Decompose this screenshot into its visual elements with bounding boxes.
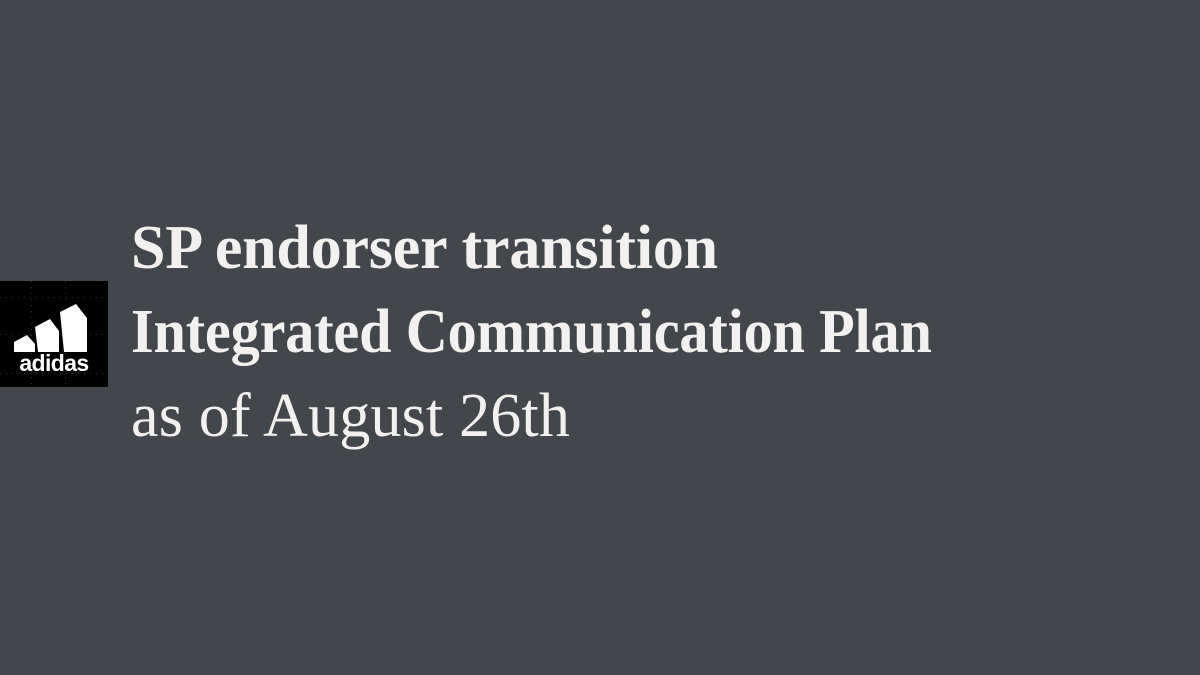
adidas-logo-block: adidas xyxy=(0,281,108,387)
page-title-line-2: Integrated Communication Plan xyxy=(131,290,1080,374)
page-subtitle-date: as of August 26th xyxy=(131,374,1141,458)
title-block: SP endorser transition Integrated Commun… xyxy=(131,206,1141,458)
page-title-line-1: SP endorser transition xyxy=(131,206,1141,290)
adidas-logo-icon: adidas xyxy=(7,295,101,373)
slide-canvas: adidas SP endorser transition Integrated… xyxy=(0,0,1200,675)
adidas-wordmark-text: adidas xyxy=(19,350,88,373)
logo-guide-horizontal-3 xyxy=(0,373,108,374)
